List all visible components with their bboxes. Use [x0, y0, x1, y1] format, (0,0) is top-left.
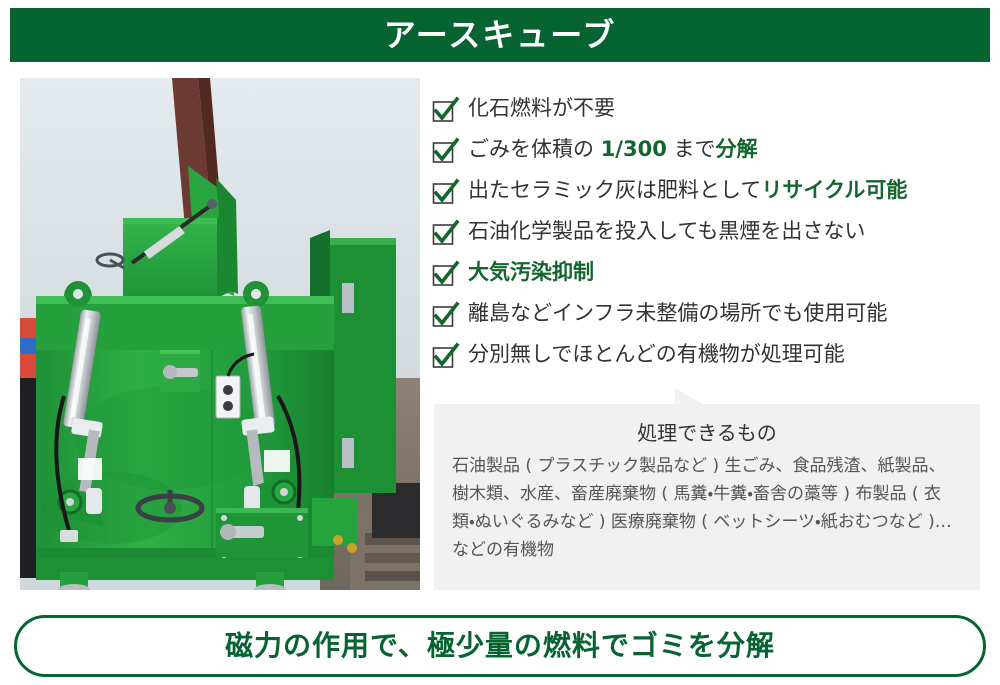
info-box-body: 石油製品 ( プラスチック製品など ) 生ごみ、食品残渣、紙製品、樹木類、水産、… [452, 452, 962, 564]
checkbox-checked-icon [432, 220, 458, 246]
checklist-item-label: 出たセラミック灰は肥料としてリサイクル可能 [468, 176, 907, 204]
incinerator-machine-illustration [20, 78, 420, 590]
info-box-heading: 処理できるもの [452, 418, 962, 448]
checklist-item-ceramic-ash-recycle: 出たセラミック灰は肥料としてリサイクル可能 [432, 176, 988, 217]
checkbox-checked-icon [432, 179, 458, 205]
checklist-item-volume-reduction: ごみを体積の 1/300 まで分解 [432, 135, 988, 176]
checklist-item-label: 離島などインフラ未整備の場所でも使用可能 [468, 299, 887, 327]
checklist-item-label: 石油化学製品を投入しても黒煙を出さない [468, 217, 865, 245]
infographic-page: アースキューブ [0, 0, 1000, 685]
checkbox-checked-icon [432, 302, 458, 328]
checklist-item-no-fossil-fuel: 化石燃料が不要 [432, 94, 988, 135]
checklist-item-air-pollution-control: 大気汚染抑制 [432, 258, 988, 299]
checklist-item-label: ごみを体積の 1/300 まで分解 [468, 135, 758, 163]
checkbox-checked-icon [432, 97, 458, 123]
checklist-item-no-black-smoke: 石油化学製品を投入しても黒煙を出さない [432, 217, 988, 258]
product-photo [20, 78, 420, 590]
tagline-text: 磁力の作用で、極少量の燃料でゴミを分解 [225, 632, 775, 660]
checklist-item-remote-island-use: 離島などインフラ未整備の場所でも使用可能 [432, 299, 988, 340]
page-title: アースキューブ [384, 19, 617, 51]
checklist-item-label: 分別無しでほとんどの有機物が処理可能 [468, 340, 845, 368]
checklist-item-label: 大気汚染抑制 [468, 258, 594, 286]
callout-notch [675, 388, 703, 404]
checkbox-checked-icon [432, 343, 458, 369]
feature-checklist: 化石燃料が不要 ごみを体積の 1/300 まで分解 出たセラミック灰は肥料として… [432, 94, 988, 381]
checklist-item-no-sorting-needed: 分別無しでほとんどの有機物が処理可能 [432, 340, 988, 381]
checkbox-checked-icon [432, 138, 458, 164]
header-banner: アースキューブ [10, 8, 990, 62]
tagline-banner: 磁力の作用で、極少量の燃料でゴミを分解 [14, 615, 986, 677]
checkbox-checked-icon [432, 261, 458, 287]
checklist-item-label: 化石燃料が不要 [468, 94, 615, 122]
processable-items-box: 処理できるもの 石油製品 ( プラスチック製品など ) 生ごみ、食品残渣、紙製品… [434, 404, 980, 590]
